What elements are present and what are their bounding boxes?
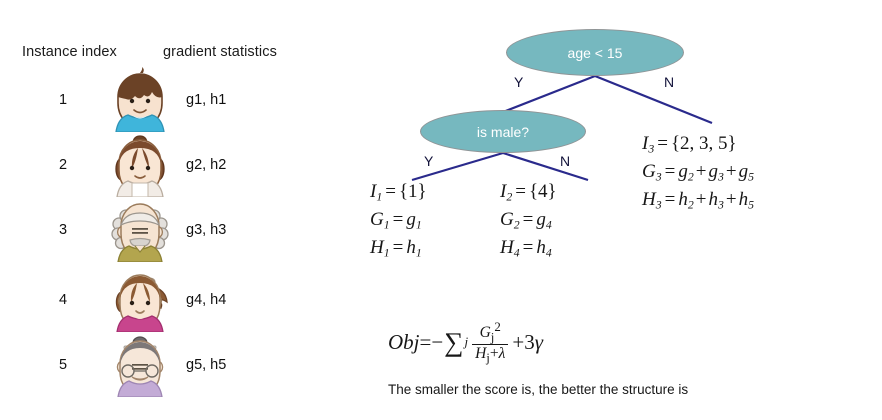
table-row: 2 g2, h2	[0, 131, 360, 201]
leaf-2-hessian-sum: H4=h4	[500, 234, 557, 262]
objective-minus: −	[431, 330, 443, 355]
objective-plus: +	[512, 330, 524, 355]
leaf-3-hessian-sum: H3=h2+h3+h5	[642, 186, 754, 214]
gradient-statistics-value: g2, h2	[186, 157, 226, 173]
gradient-statistics-value: g3, h3	[186, 222, 226, 238]
tree-node-age[interactable]: age < 15	[506, 29, 684, 76]
edge-label-root-yes: Y	[514, 74, 523, 90]
summation-icon: ∑	[443, 330, 464, 354]
instance-index-value: 1	[52, 92, 74, 108]
table-row: 1 g1, h1	[0, 66, 360, 136]
objective-gamma: γ	[535, 330, 543, 355]
objective-formula: Obj = − ∑j Gj2 Hj+λ + 3γ	[388, 320, 543, 365]
table-row: 4 g4, h4	[0, 266, 360, 336]
objective-denominator: Hj+λ	[472, 344, 508, 364]
column-header-instance-index: Instance index	[22, 44, 117, 60]
edge-label-child-no: N	[560, 153, 570, 169]
column-header-gradient-statistics: gradient statistics	[163, 44, 277, 60]
slide-root: Instance index gradient statistics 1	[0, 0, 882, 420]
avatar-elderly-woman-icon	[108, 331, 172, 397]
leaf-3-hessian-terms: h2+h3+h5	[678, 189, 754, 210]
objective-numerator: Gj2	[477, 320, 504, 344]
instance-table: Instance index gradient statistics 1	[0, 0, 360, 420]
leaf-3-statistics: I3={2, 3, 5} G3=g2+g3+g5 H3=h2+h3+h5	[642, 130, 754, 214]
leaf-1-instance-set: I1={1}	[370, 178, 427, 206]
leaf-3-instance-set: I3={2, 3, 5}	[642, 130, 754, 158]
tree-node-is-male-label: is male?	[477, 124, 529, 140]
objective-gamma-coeff: 3	[524, 330, 535, 355]
edge-label-child-yes: Y	[424, 153, 433, 169]
gradient-statistics-value: g5, h5	[186, 357, 226, 373]
avatar-girl-icon	[108, 131, 172, 197]
leaf-2-statistics: I2={4} G2=g4 H4=h4	[500, 178, 557, 262]
gradient-statistics-value: g1, h1	[186, 92, 226, 108]
instance-index-value: 4	[52, 292, 74, 308]
leaf-1-gradient-sum: G1=g1	[370, 206, 427, 234]
tree-node-age-label: age < 15	[568, 45, 623, 61]
avatar-girl-ponytail-icon	[108, 266, 172, 332]
leaf-1-statistics: I1={1} G1=g1 H1=h1	[370, 178, 427, 262]
leaf-1-hessian-sum: H1=h1	[370, 234, 427, 262]
avatar-boy-icon	[108, 66, 172, 132]
tree-node-is-male[interactable]: is male?	[420, 110, 586, 153]
instance-index-value: 2	[52, 157, 74, 173]
instance-index-value: 3	[52, 222, 74, 238]
gradient-statistics-value: g4, h4	[186, 292, 226, 308]
objective-fraction: Gj2 Hj+λ	[472, 320, 508, 365]
table-row: 3	[0, 196, 360, 266]
leaf-3-gradient-sum: G3=g2+g3+g5	[642, 158, 754, 186]
leaf-2-gradient-sum: G2=g4	[500, 206, 557, 234]
avatar-elderly-man-icon	[108, 196, 172, 262]
decision-tree-diagram: age < 15 is male? Y N Y N I1={1} G1=g1 H…	[360, 0, 882, 420]
objective-lhs: Obj	[388, 330, 420, 355]
instance-index-value: 5	[52, 357, 74, 373]
objective-equals: =	[420, 330, 432, 355]
objective-sum-index: j	[464, 334, 468, 350]
table-row: 5 g5, h5	[0, 331, 360, 401]
leaf-2-instance-set: I2={4}	[500, 178, 557, 206]
leaf-3-gradient-terms: g2+g3+g5	[678, 161, 754, 182]
caption-text: The smaller the score is, the better the…	[388, 382, 688, 397]
edge-label-root-no: N	[664, 74, 674, 90]
